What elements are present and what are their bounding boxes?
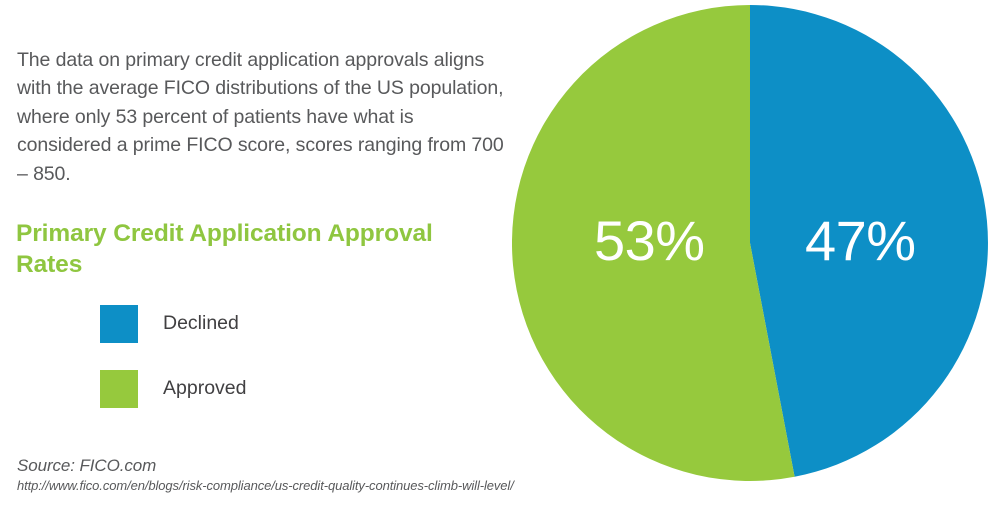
pie-chart: 53% 47% [512,5,988,481]
legend-swatch-declined [100,305,138,343]
source-label: Source: FICO.com [17,455,514,477]
legend-swatch-approved [100,370,138,408]
chart-legend: Declined Approved [100,304,246,434]
chart-title: Primary Credit Application Approval Rate… [16,218,476,280]
legend-label-declined: Declined [163,312,239,335]
intro-paragraph: The data on primary credit application a… [17,46,512,189]
infographic-canvas: The data on primary credit application a… [0,0,1000,517]
legend-label-approved: Approved [163,377,246,400]
legend-item-declined[interactable]: Declined [100,304,246,343]
legend-item-approved[interactable]: Approved [100,369,246,408]
source-url: http://www.fico.com/en/blogs/risk-compli… [17,477,514,495]
pie-label-approved: 53% [594,213,705,269]
pie-label-declined: 47% [805,213,916,269]
pie-chart-svg [512,5,988,481]
source-block: Source: FICO.com http://www.fico.com/en/… [17,455,514,495]
